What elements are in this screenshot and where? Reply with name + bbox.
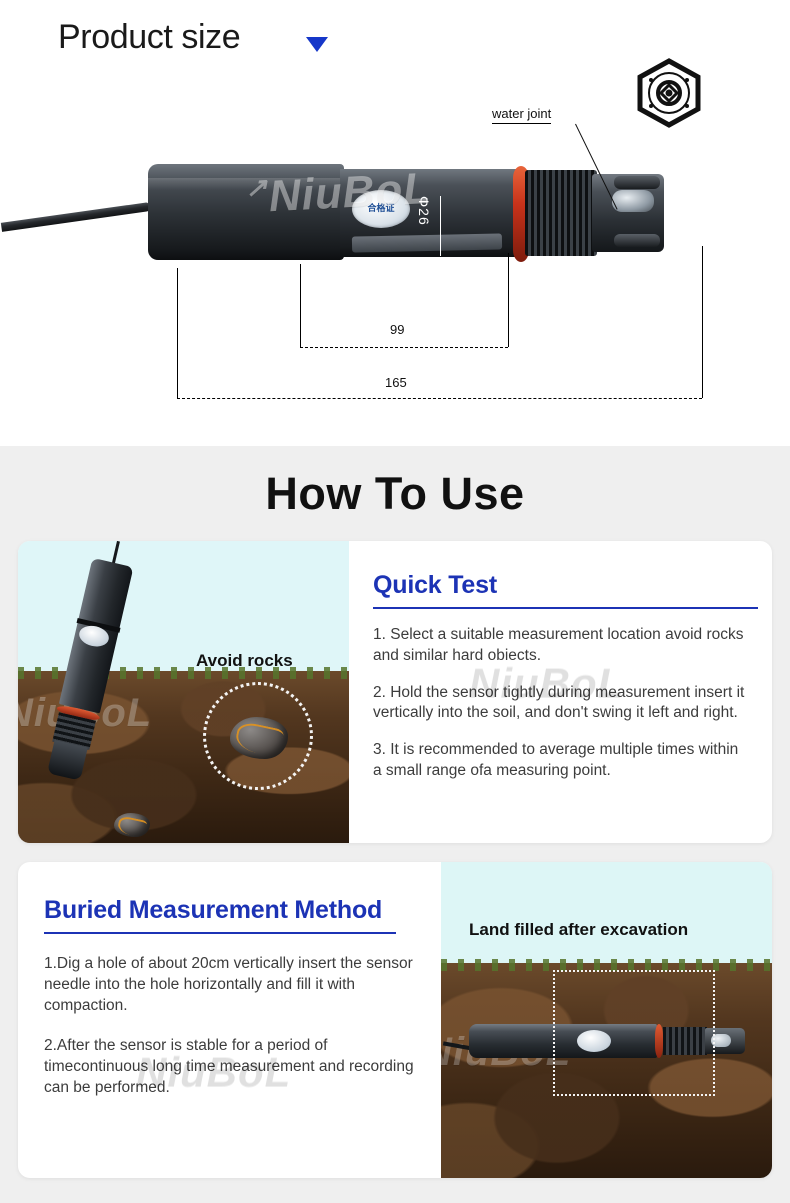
card-heading-quick-test: Quick Test <box>373 571 746 600</box>
photo-caption-land-filled: Land filled after excavation <box>469 920 688 940</box>
product-photo: 合格证 <box>0 130 700 295</box>
section-title-product-size: Product size <box>58 18 240 57</box>
sensor-probe-tip <box>47 740 88 781</box>
sensor-electrode <box>612 190 654 212</box>
sensor-thread <box>525 170 597 256</box>
card-heading-buried-measurement: Buried Measurement Method <box>44 896 417 925</box>
step-text-2: 2. Hold the sensor tightly during measur… <box>373 683 746 725</box>
dim-tick-165-left <box>177 268 178 398</box>
text-pane-buried-measurement: Buried Measurement Method 1.Dig a hole o… <box>18 862 441 1178</box>
rock-highlighted <box>230 717 288 759</box>
hex-bolt-icon <box>634 58 704 128</box>
rock-secondary <box>114 813 150 837</box>
dim-line-99 <box>300 347 508 348</box>
photo-land-filled: NiuBoL Land filled after excavation <box>441 862 772 1178</box>
photo-avoid-rocks: NiuBoL Avoid rocks <box>18 541 349 843</box>
dim-tick-165-right <box>702 246 703 398</box>
dim-label-165: 165 <box>385 375 407 390</box>
step-text-3: 3. It is recommended to average multiple… <box>373 740 746 782</box>
sticker-text: 合格证 <box>367 205 394 214</box>
how-to-use-section: How To Use Ni <box>0 446 790 1203</box>
dim-label-99: 99 <box>390 322 404 337</box>
card-buried-measurement: Buried Measurement Method 1.Dig a hole o… <box>18 862 772 1178</box>
triangle-down-icon <box>306 37 328 52</box>
step-text-1: 1.Dig a hole of about 20cm vertically in… <box>44 954 417 1016</box>
water-joint-label: water joint <box>492 106 551 124</box>
section-title-how-to-use: How To Use <box>0 468 790 520</box>
sensor-flat-face <box>352 233 502 252</box>
dim-tick-99-left <box>300 264 301 347</box>
dim-tick-99-right <box>508 253 509 347</box>
photo-sky <box>18 541 349 671</box>
product-detail-page: Product size 合格证 <box>0 0 790 1203</box>
photo-caption-avoid-rocks: Avoid rocks <box>196 651 293 671</box>
heading-underline <box>44 932 396 934</box>
sensor-cable <box>1 202 151 232</box>
heading-underline <box>373 607 758 609</box>
sensor-prong-top <box>614 176 660 189</box>
certification-sticker: 合格证 <box>352 190 410 228</box>
diameter-rule <box>440 196 441 256</box>
diameter-label: Φ26 <box>416 196 432 226</box>
sensor-barrel-rear <box>148 164 344 260</box>
card-quick-test: NiuBoL Avoid rocks Quick Test 1. Select … <box>18 541 772 843</box>
excavation-outline <box>553 970 715 1096</box>
dim-line-165 <box>177 398 702 399</box>
photo-sky <box>441 862 772 963</box>
step-text-1: 1. Select a suitable measurement locatio… <box>373 625 746 667</box>
sensor-prong-bottom <box>614 234 660 247</box>
step-text-2: 2.After the sensor is stable for a perio… <box>44 1036 417 1098</box>
text-pane-quick-test: Quick Test 1. Select a suitable measurem… <box>349 541 772 843</box>
product-size-section: Product size 合格证 <box>0 0 790 446</box>
